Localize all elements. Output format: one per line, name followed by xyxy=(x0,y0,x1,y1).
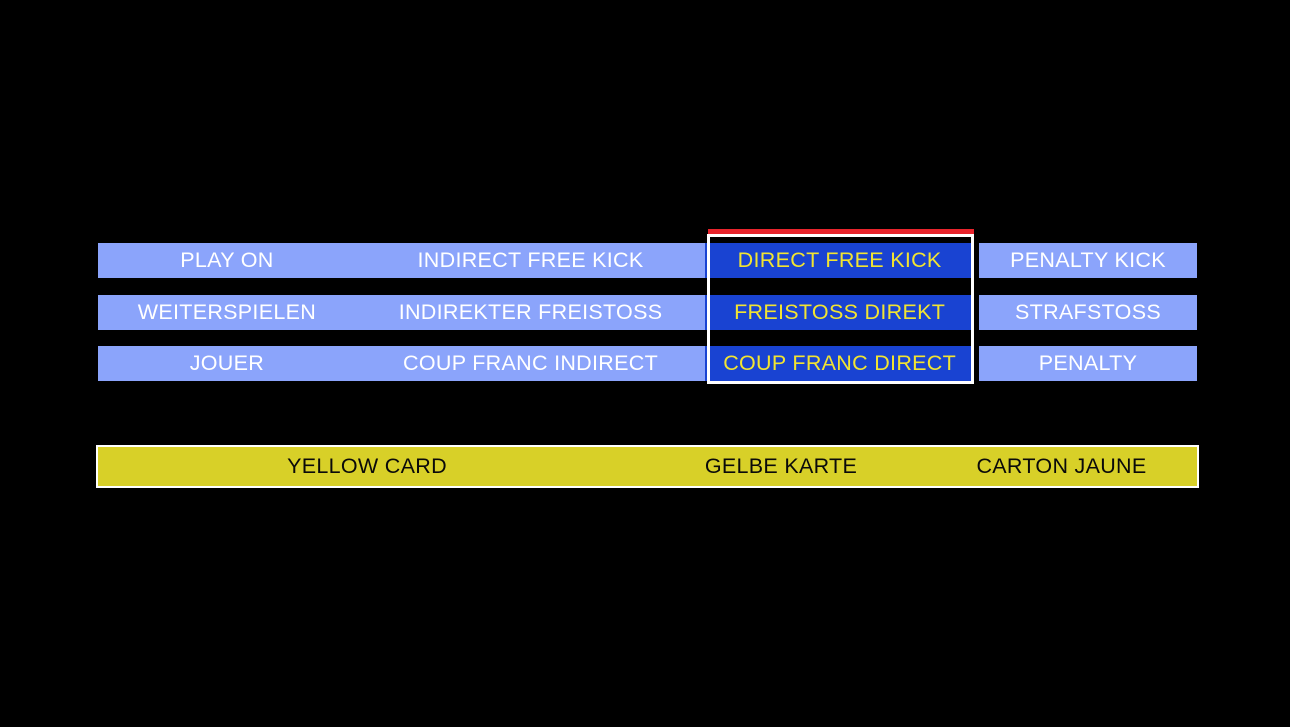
yellow-card-label-german: GELBE KARTE xyxy=(636,447,926,486)
grid-row-french: JOUER COUP FRANC INDIRECT COUP FRANC DIR… xyxy=(98,346,1197,381)
yellow-card-bar[interactable]: YELLOW CARD GELBE KARTE CARTON JAUNE xyxy=(96,445,1199,488)
grid-row-english: PLAY ON INDIRECT FREE KICK DIRECT FREE K… xyxy=(98,243,1197,278)
decision-cell-play-on-german[interactable]: WEITERSPIELEN xyxy=(98,295,356,330)
grid-row-german: WEITERSPIELEN INDIREKTER FREISTOSS FREIS… xyxy=(98,295,1197,330)
decision-cell-direct-free-kick-german[interactable]: FREISTOSS DIREKT xyxy=(705,295,974,330)
decision-cell-penalty-kick-english[interactable]: PENALTY KICK xyxy=(979,243,1197,278)
decision-cell-penalty-kick-french[interactable]: PENALTY xyxy=(979,346,1197,381)
decision-cell-direct-free-kick-french[interactable]: COUP FRANC DIRECT xyxy=(705,346,974,381)
yellow-card-label-english: YELLOW CARD xyxy=(98,447,636,486)
decision-cell-indirect-free-kick-french[interactable]: COUP FRANC INDIRECT xyxy=(356,346,705,381)
decision-cell-play-on-english[interactable]: PLAY ON xyxy=(98,243,356,278)
decision-cell-indirect-free-kick-english[interactable]: INDIRECT FREE KICK xyxy=(356,243,705,278)
presentation-slide: PLAY ON INDIRECT FREE KICK DIRECT FREE K… xyxy=(0,0,1290,727)
decision-cell-play-on-french[interactable]: JOUER xyxy=(98,346,356,381)
decision-cell-penalty-kick-german[interactable]: STRAFSTOSS xyxy=(979,295,1197,330)
referee-decision-grid: PLAY ON INDIRECT FREE KICK DIRECT FREE K… xyxy=(98,243,1197,382)
decision-cell-direct-free-kick-english[interactable]: DIRECT FREE KICK xyxy=(705,243,974,278)
decision-cell-indirect-free-kick-german[interactable]: INDIREKTER FREISTOSS xyxy=(356,295,705,330)
yellow-card-label-french: CARTON JAUNE xyxy=(926,447,1197,486)
selection-marker-bar xyxy=(708,229,974,235)
